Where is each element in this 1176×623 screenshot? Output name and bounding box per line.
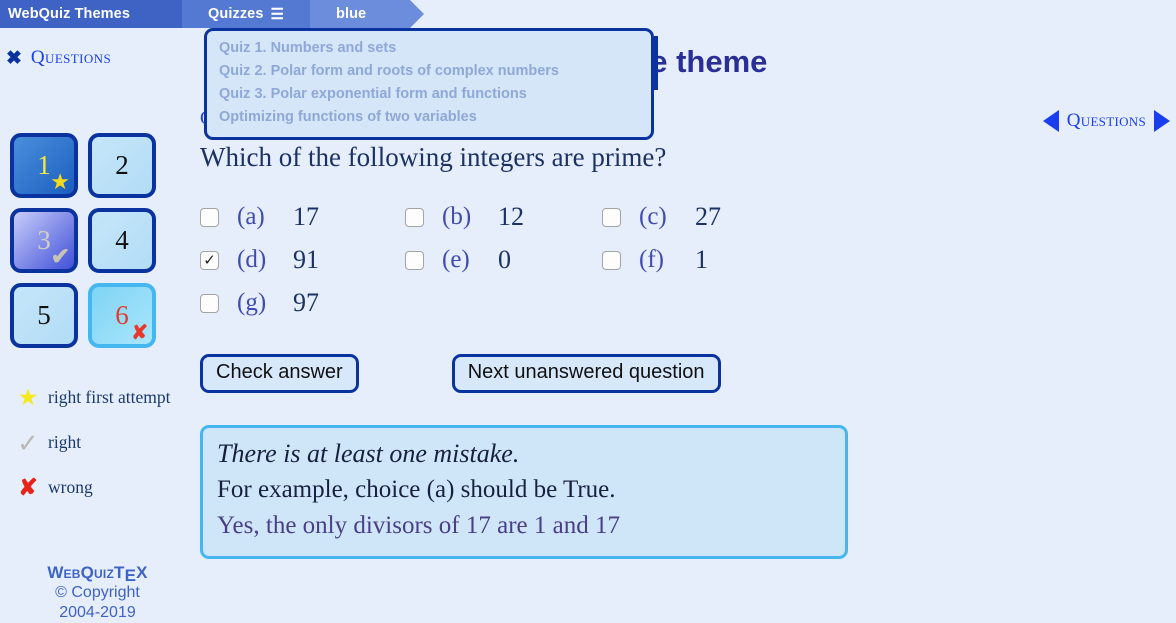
question-button-number: 4 xyxy=(115,225,129,256)
question-button-grid: 1 ★ 2 3 ✔ 4 5 6 ✘ xyxy=(10,133,170,348)
check-icon: ✔ xyxy=(51,245,70,268)
sidebar-heading: Questions xyxy=(31,47,111,69)
feedback-line-1: There is at least one mistake. xyxy=(217,436,831,472)
close-icon[interactable]: ✖ xyxy=(6,49,22,68)
question-nav-label: Questions xyxy=(1067,110,1146,132)
choice-letter: (d) xyxy=(237,246,289,274)
question-text: Which of the following integers are prim… xyxy=(200,142,1160,173)
star-icon: ★ xyxy=(8,386,48,409)
question-button-number: 6 xyxy=(115,300,129,331)
quizzes-dropdown-menu[interactable]: Quiz 1. Numbers and sets Quiz 2. Polar f… xyxy=(204,28,654,140)
feedback-box: There is at least one mistake. For examp… xyxy=(200,425,848,559)
breadcrumb-label-quizzes: Quizzes xyxy=(208,6,264,22)
dropdown-item-quiz-1[interactable]: Quiz 1. Numbers and sets xyxy=(207,37,651,60)
choice-letter: (b) xyxy=(442,203,494,231)
checkbox-c[interactable] xyxy=(602,208,621,227)
checkbox-e[interactable] xyxy=(405,251,424,270)
check-answer-button[interactable]: Check answer xyxy=(200,354,359,393)
hamburger-icon[interactable]: ☰ xyxy=(271,7,285,22)
choice-a[interactable]: (a) 17 xyxy=(200,202,405,232)
star-icon: ★ xyxy=(50,171,70,193)
title-divider xyxy=(654,36,658,90)
main-content: Question 6 Which of the following intege… xyxy=(200,108,1160,559)
dropdown-item-quiz-3[interactable]: Quiz 3. Polar exponential form and funct… xyxy=(207,83,651,106)
breadcrumb-item-quizzes[interactable]: Quizzes ☰ xyxy=(182,0,324,28)
question-button-3[interactable]: 3 ✔ xyxy=(10,208,78,273)
brand-part-1: WebQuizT xyxy=(47,563,124,582)
choice-value: 27 xyxy=(695,202,721,232)
previous-question-icon[interactable] xyxy=(1043,110,1059,132)
legend-label: right first attempt xyxy=(48,387,170,408)
legend-item-right: ✓ right xyxy=(8,420,188,465)
question-button-5[interactable]: 5 xyxy=(10,283,78,348)
dropdown-item-optimizing[interactable]: Optimizing functions of two variables xyxy=(207,106,651,129)
action-bar: Check answer Next unanswered question xyxy=(200,354,1160,393)
question-button-6[interactable]: 6 ✘ xyxy=(88,283,156,348)
legend: ★ right first attempt ✓ right ✘ wrong xyxy=(8,375,188,510)
checkbox-b[interactable] xyxy=(405,208,424,227)
brand-name: WebQuizTeX xyxy=(0,563,195,583)
question-button-number: 5 xyxy=(37,300,51,331)
choice-list: (a) 17 (b) 12 (c) 27 ✓ (d) 91 (e) 0 (f) … xyxy=(200,202,1160,318)
breadcrumb-item-themes[interactable]: WebQuiz Themes xyxy=(0,0,200,28)
legend-label: wrong xyxy=(48,477,93,498)
legend-label: right xyxy=(48,432,81,453)
choice-value: 1 xyxy=(695,245,708,275)
choice-letter: (c) xyxy=(639,203,691,231)
choice-letter: (f) xyxy=(639,246,691,274)
choice-f[interactable]: (f) 1 xyxy=(602,245,802,275)
choice-value: 17 xyxy=(293,202,319,232)
checkbox-g[interactable] xyxy=(200,294,219,313)
question-button-number: 3 xyxy=(37,225,51,256)
breadcrumb-label-blue: blue xyxy=(336,6,366,22)
question-button-number: 1 xyxy=(37,150,51,181)
sidebar-header: ✖ Questions xyxy=(6,47,111,69)
question-button-1[interactable]: 1 ★ xyxy=(10,133,78,198)
choice-letter: (e) xyxy=(442,246,494,274)
breadcrumb: WebQuiz Themes Quizzes ☰ blue xyxy=(0,0,1176,28)
legend-item-right-first: ★ right first attempt xyxy=(8,375,188,420)
next-unanswered-question-button[interactable]: Next unanswered question xyxy=(452,354,721,393)
footer: WebQuizTeX © Copyright 2004-2019 xyxy=(0,563,195,623)
checkbox-a[interactable] xyxy=(200,208,219,227)
feedback-line-3: Yes, the only divisors of 17 are 1 and 1… xyxy=(217,508,831,544)
breadcrumb-label-themes: WebQuiz Themes xyxy=(8,6,130,22)
choice-e[interactable]: (e) 0 xyxy=(405,245,602,275)
legend-item-wrong: ✘ wrong xyxy=(8,465,188,510)
cross-icon: ✘ xyxy=(131,323,148,343)
copyright-text: © Copyright xyxy=(0,583,195,603)
brand-part-2: X xyxy=(136,563,148,582)
choice-letter: (a) xyxy=(237,203,289,231)
choice-value: 97 xyxy=(293,288,319,318)
question-button-4[interactable]: 4 xyxy=(88,208,156,273)
sidebar: ✖ Questions 1 ★ 2 3 ✔ 4 5 6 ✘ ★ right fi… xyxy=(0,40,195,619)
checkbox-d[interactable]: ✓ xyxy=(200,251,219,270)
next-question-icon[interactable] xyxy=(1154,110,1170,132)
choice-value: 91 xyxy=(293,245,319,275)
choice-value: 12 xyxy=(498,202,524,232)
brand-tex-e: e xyxy=(125,566,137,586)
choice-g[interactable]: (g) 97 xyxy=(200,288,405,318)
choice-d[interactable]: ✓ (d) 91 xyxy=(200,245,405,275)
copyright-years: 2004-2019 xyxy=(0,603,195,623)
choice-value: 0 xyxy=(498,245,511,275)
choice-b[interactable]: (b) 12 xyxy=(405,202,602,232)
check-icon: ✓ xyxy=(8,430,48,456)
cross-icon: ✘ xyxy=(8,476,48,499)
dropdown-item-quiz-2[interactable]: Quiz 2. Polar form and roots of complex … xyxy=(207,60,651,83)
choice-c[interactable]: (c) 27 xyxy=(602,202,802,232)
breadcrumb-item-blue[interactable]: blue xyxy=(310,0,410,28)
question-nav: Questions xyxy=(1043,110,1170,132)
question-button-number: 2 xyxy=(115,150,129,181)
question-button-2[interactable]: 2 xyxy=(88,133,156,198)
choice-letter: (g) xyxy=(237,289,289,317)
feedback-line-2: For example, choice (a) should be True. xyxy=(217,472,831,508)
checkbox-f[interactable] xyxy=(602,251,621,270)
